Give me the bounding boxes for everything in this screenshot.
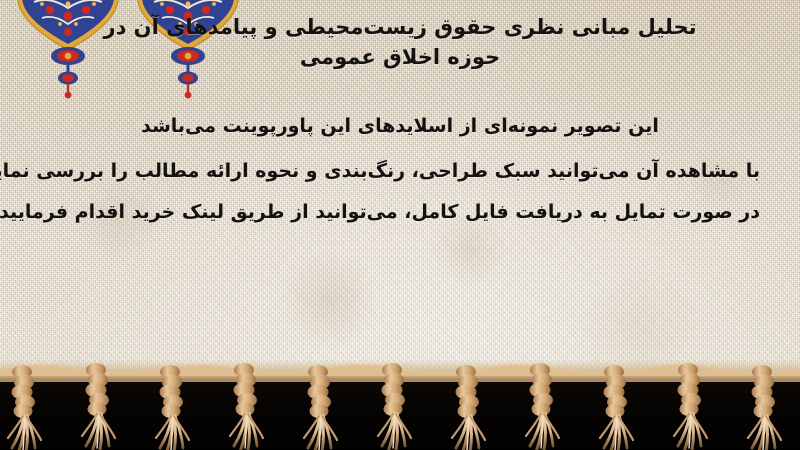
slide-canvas: تحلیل مبانی نظری حقوق زیست‌محیطی و پیامد… <box>0 0 800 450</box>
body-line-2: با مشاهده آن می‌توانید سبک طراحی، رنگ‌بن… <box>40 151 760 192</box>
body-line-3: در صورت تمایل به دریافت فایل کامل، می‌تو… <box>40 192 760 233</box>
slide-body: این تصویر نمونه‌ای از اسلایدهای این پاور… <box>40 106 760 233</box>
body-line-1: این تصویر نمونه‌ای از اسلایدهای این پاور… <box>40 106 760 147</box>
slide-text-layer: تحلیل مبانی نظری حقوق زیست‌محیطی و پیامد… <box>0 0 800 378</box>
slide-title-line-2: حوزه اخلاق عمومی <box>300 45 500 69</box>
slide-title: تحلیل مبانی نظری حقوق زیست‌محیطی و پیامد… <box>40 12 760 72</box>
slide-title-line-1: تحلیل مبانی نظری حقوق زیست‌محیطی و پیامد… <box>103 15 696 39</box>
bottom-black-band <box>0 374 800 450</box>
carpet-selvedge-edge <box>0 360 800 378</box>
